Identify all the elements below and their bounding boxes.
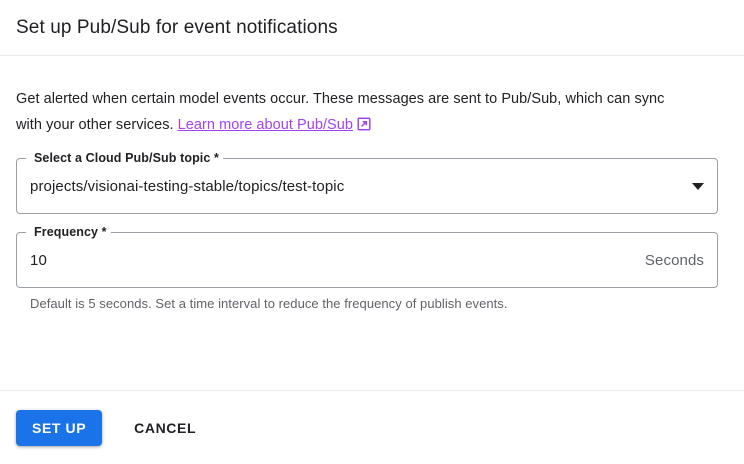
- dialog-footer: SET UP CANCEL: [0, 390, 744, 464]
- frequency-field-label: Frequency *: [30, 224, 111, 240]
- frequency-unit-suffix: Seconds: [645, 252, 704, 269]
- topic-field-label: Select a Cloud Pub/Sub topic *: [30, 150, 223, 166]
- topic-field-value: projects/visionai-testing-stable/topics/…: [30, 178, 684, 195]
- frequency-field-control[interactable]: 10 Seconds: [16, 232, 718, 288]
- frequency-hint-text: Default is 5 seconds. Set a time interva…: [30, 296, 728, 311]
- chevron-down-icon[interactable]: [692, 183, 704, 190]
- topic-field-control[interactable]: projects/visionai-testing-stable/topics/…: [16, 158, 718, 214]
- intro-paragraph: Get alerted when certain model events oc…: [16, 56, 686, 140]
- dialog-body: Get alerted when certain model events oc…: [0, 56, 744, 390]
- topic-select-field[interactable]: Select a Cloud Pub/Sub topic * projects/…: [16, 158, 718, 214]
- cancel-button[interactable]: CANCEL: [126, 410, 204, 446]
- learn-more-link[interactable]: Learn more about Pub/Sub: [178, 117, 353, 133]
- learn-more-label: Learn more about Pub/Sub: [178, 117, 353, 133]
- page-title: Set up Pub/Sub for event notifications: [16, 16, 338, 40]
- set-up-button[interactable]: SET UP: [16, 410, 102, 446]
- frequency-field[interactable]: Frequency * 10 Seconds: [16, 232, 718, 288]
- frequency-input[interactable]: 10: [30, 252, 645, 269]
- external-link-icon: [357, 114, 371, 140]
- dialog-header: Set up Pub/Sub for event notifications: [0, 0, 744, 56]
